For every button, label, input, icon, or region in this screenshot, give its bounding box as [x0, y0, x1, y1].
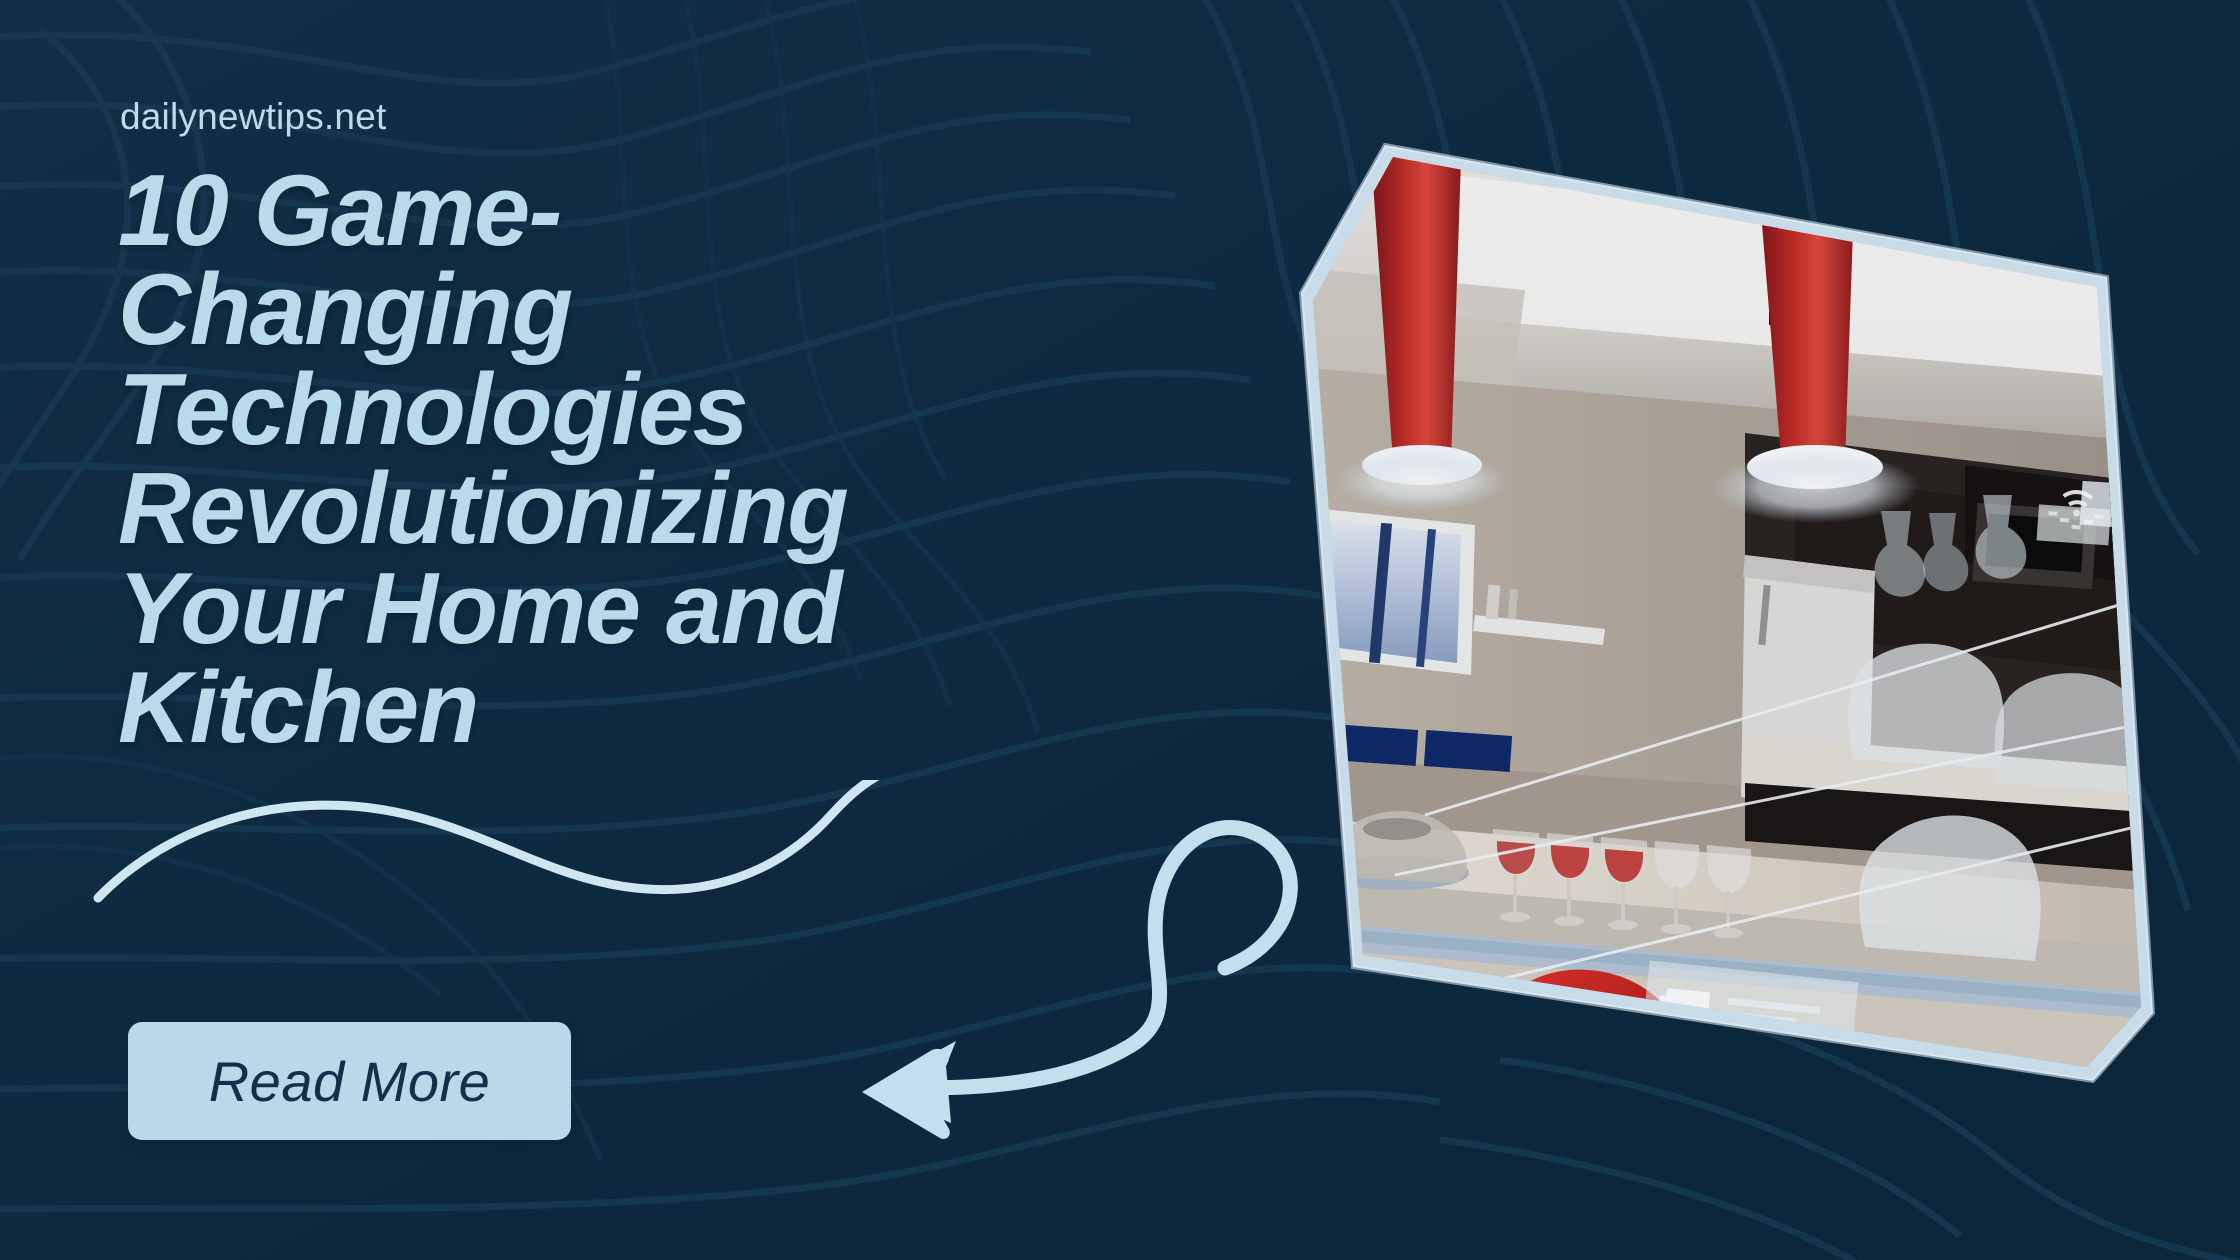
hero-text-block: dailynewtips.net 10 Game- Changing Techn…: [118, 96, 1118, 759]
page-title: 10 Game- Changing Technologies Revolutio…: [118, 162, 1098, 759]
article-photo: [1275, 115, 2185, 1130]
read-more-button[interactable]: Read More: [128, 1022, 571, 1140]
site-name: dailynewtips.net: [120, 96, 1118, 138]
promo-card: dailynewtips.net 10 Game- Changing Techn…: [0, 0, 2240, 1260]
read-more-label: Read More: [209, 1049, 491, 1114]
photo-frame: [1275, 115, 2185, 1130]
